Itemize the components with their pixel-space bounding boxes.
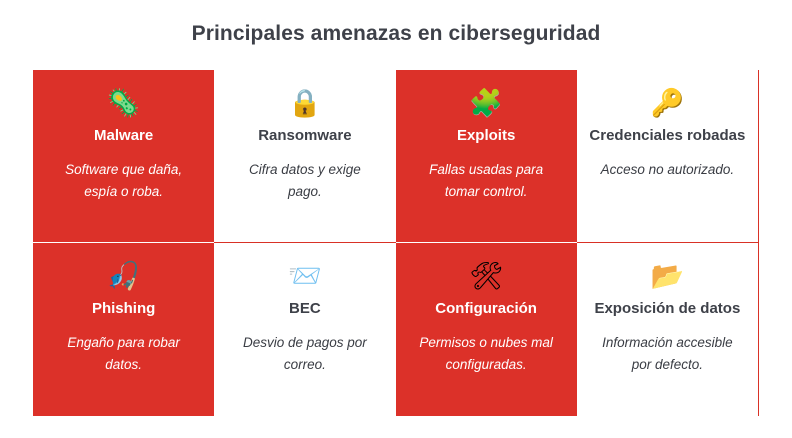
key-icon: 🔑 — [651, 88, 685, 122]
threat-card-description: Acceso no autorizado. — [601, 159, 735, 181]
threat-card-title: Phishing — [92, 299, 155, 318]
microbe-icon: 🦠 — [107, 88, 141, 122]
page-title: Principales amenazas en ciberseguridad — [0, 22, 792, 46]
threat-card-title: BEC — [289, 299, 321, 318]
threat-card-description: Desvio de pagos por correo. — [230, 332, 379, 376]
threat-card-description: Fallas usadas para tomar control. — [412, 159, 561, 203]
threat-card-description: Software que daña, espía o roba. — [49, 159, 198, 203]
threat-card-title: Exploits — [457, 126, 515, 145]
threat-card-malware[interactable]: 🦠 Malware Software que daña, espía o rob… — [33, 70, 214, 243]
threat-card-title: Exposición de datos — [594, 299, 740, 318]
threat-card-configuracion[interactable]: 🛠 Configuración Permisos o nubes mal con… — [396, 243, 577, 416]
fishing-pole-icon: 🎣 — [107, 261, 141, 295]
puzzle-piece-icon: 🧩 — [469, 88, 503, 122]
threat-card-grid: 🦠 Malware Software que daña, espía o rob… — [33, 70, 759, 416]
hammer-and-wrench-icon: 🛠 — [469, 261, 503, 295]
infographic-root: Principales amenazas en ciberseguridad 🦠… — [0, 0, 792, 438]
threat-card-description: Engaño para robar datos. — [49, 332, 198, 376]
threat-card-title: Malware — [94, 126, 153, 145]
padlock-icon: 🔒 — [288, 88, 322, 122]
open-folder-icon: 📂 — [651, 261, 685, 295]
threat-card-ransomware[interactable]: 🔒 Ransomware Cifra datos y exige pago. — [214, 70, 395, 243]
threat-card-title: Configuración — [435, 299, 537, 318]
threat-card-title: Ransomware — [258, 126, 351, 145]
threat-card-description: Cifra datos y exige pago. — [230, 159, 379, 203]
threat-card-description: Información accesible por defecto. — [593, 332, 742, 376]
threat-card-exploits[interactable]: 🧩 Exploits Fallas usadas para tomar cont… — [396, 70, 577, 243]
threat-card-title: Credenciales robadas — [589, 126, 745, 145]
threat-card-description: Permisos o nubes mal configuradas. — [412, 332, 561, 376]
envelope-icon: 📨 — [288, 261, 322, 295]
threat-card-bec[interactable]: 📨 BEC Desvio de pagos por correo. — [214, 243, 395, 416]
threat-card-phishing[interactable]: 🎣 Phishing Engaño para robar datos. — [33, 243, 214, 416]
threat-card-credenciales-robadas[interactable]: 🔑 Credenciales robadas Acceso no autoriz… — [577, 70, 758, 243]
threat-card-exposicion-de-datos[interactable]: 📂 Exposición de datos Información accesi… — [577, 243, 758, 416]
